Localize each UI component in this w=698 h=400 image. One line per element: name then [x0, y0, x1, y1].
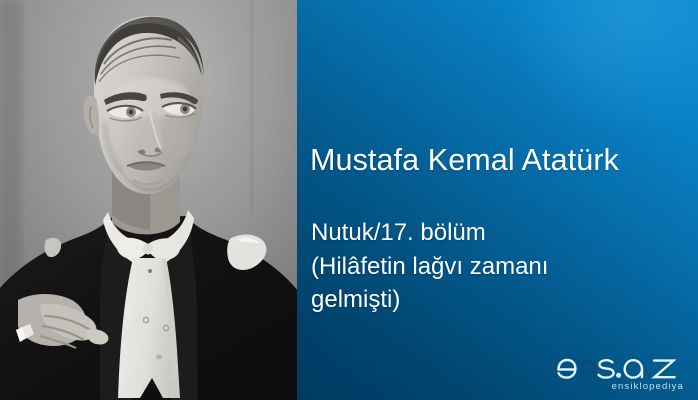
title-panel: Mustafa Kemal Atatürk Nutuk/17. bölüm (H… [297, 0, 698, 400]
logo-tagline-text: ensiklopediya [612, 381, 684, 391]
article-banner: Mustafa Kemal Atatürk Nutuk/17. bölüm (H… [0, 0, 698, 400]
portrait-photo [0, 0, 297, 400]
site-logo[interactable]: ensiklopediya [554, 349, 686, 391]
title-text-block: Mustafa Kemal Atatürk Nutuk/17. bölüm (H… [310, 0, 698, 400]
page-subtitle: Nutuk/17. bölüm (Hilâfetin lağvı zamanı … [311, 216, 691, 317]
subtitle-line-2: (Hilâfetin lağvı zamanı [311, 250, 691, 284]
portrait-photo-graphic [0, 0, 297, 400]
subtitle-line-3: gelmişti) [311, 283, 691, 317]
subtitle-line-1: Nutuk/17. bölüm [311, 216, 691, 250]
page-title: Mustafa Kemal Atatürk [310, 141, 619, 179]
site-logo-graphic: ensiklopediya [554, 349, 686, 391]
